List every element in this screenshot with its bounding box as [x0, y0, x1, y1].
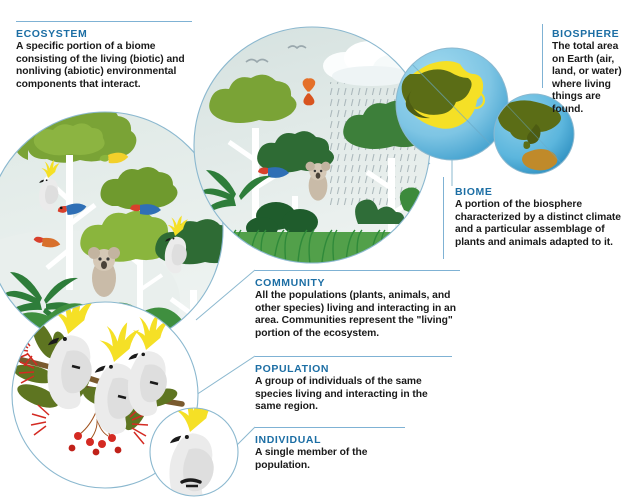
- label-block-community: COMMUNITY All the populations (plants, a…: [255, 277, 460, 340]
- label-block-ecosystem: ECOSYSTEM A specific portion of a biome …: [16, 28, 192, 91]
- individual-description: A single member of the population.: [255, 447, 405, 472]
- divider: [542, 24, 543, 88]
- population-description: A group of individuals of the same speci…: [255, 376, 452, 414]
- individual-heading: INDIVIDUAL: [255, 434, 405, 447]
- community-scene-circle: [194, 27, 440, 272]
- divider: [443, 177, 444, 259]
- community-heading: COMMUNITY: [255, 277, 460, 290]
- divider: [255, 356, 452, 357]
- label-block-individual: INDIVIDUAL A single member of the popula…: [255, 434, 405, 472]
- population-heading: POPULATION: [255, 363, 452, 376]
- divider: [255, 270, 460, 271]
- divider: [255, 427, 405, 428]
- divider: [16, 21, 192, 22]
- biosphere-description: The total area on Earth (air, land, or w…: [552, 41, 624, 117]
- biome-heading: BIOME: [455, 186, 624, 199]
- ecosystem-heading: ECOSYSTEM: [16, 28, 192, 41]
- biome-globe: [396, 48, 508, 160]
- label-block-biosphere: BIOSPHERE The total area on Earth (air, …: [552, 28, 624, 117]
- community-description: All the populations (plants, animals, an…: [255, 290, 460, 340]
- biome-description: A portion of the biosphere characterized…: [455, 199, 624, 249]
- label-block-biome: BIOME A portion of the biosphere charact…: [455, 186, 624, 249]
- biosphere-heading: BIOSPHERE: [552, 28, 624, 41]
- diagram-canvas: ECOSYSTEM A specific portion of a biome …: [0, 0, 624, 500]
- label-block-population: POPULATION A group of individuals of the…: [255, 363, 452, 414]
- ecosystem-description: A specific portion of a biome consisting…: [16, 41, 192, 91]
